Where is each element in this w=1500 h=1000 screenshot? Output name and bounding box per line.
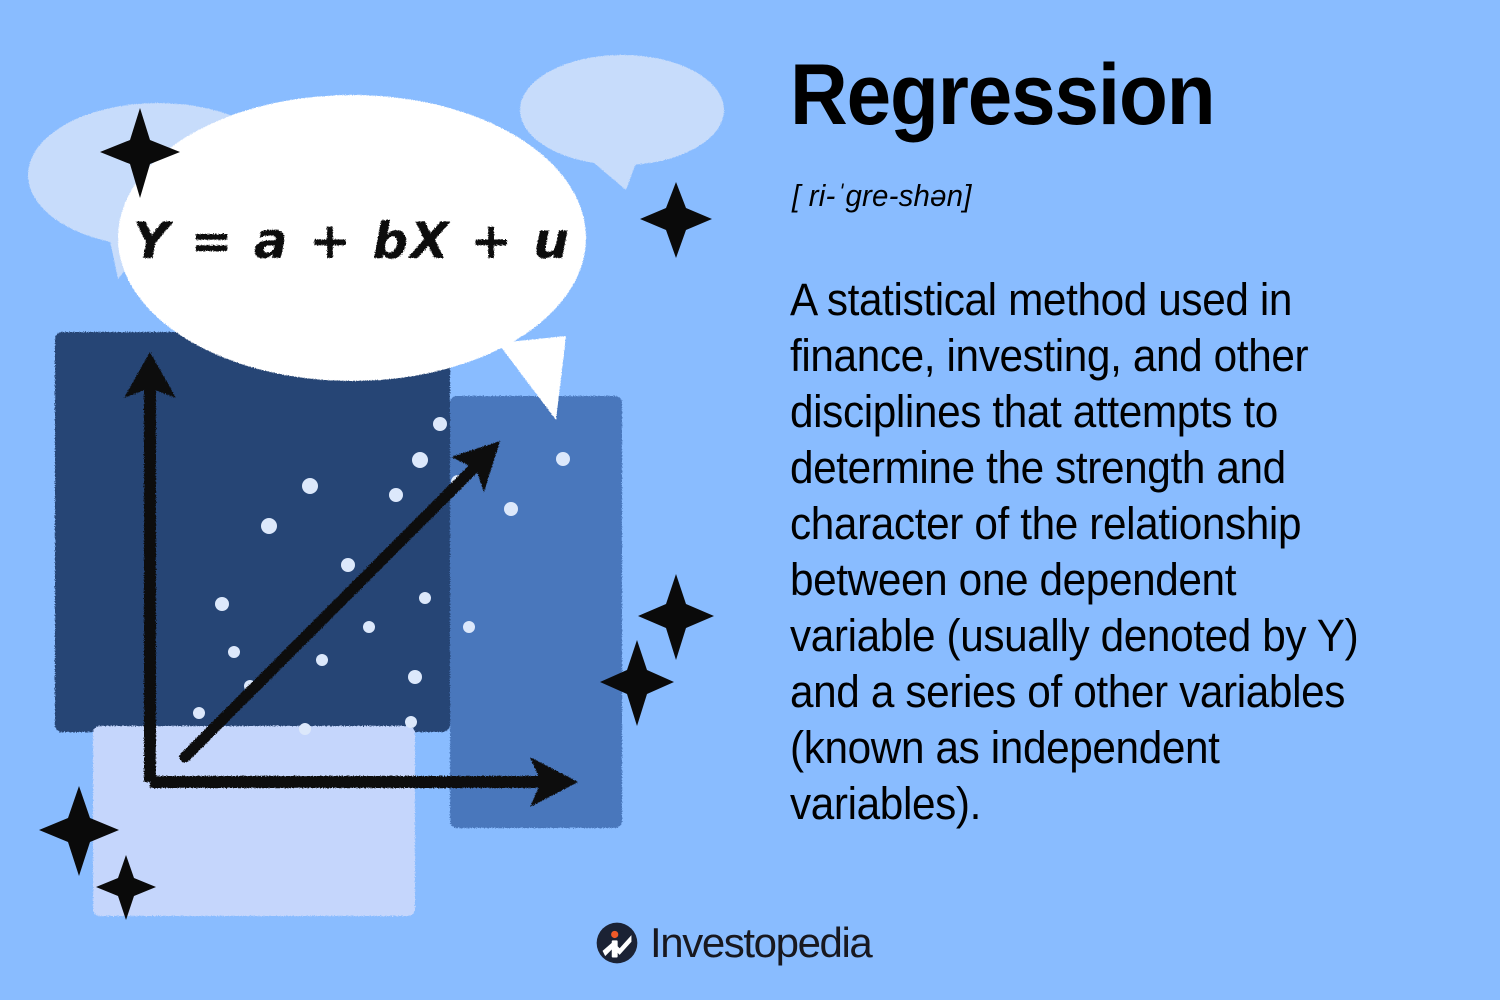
sparkle-icon <box>638 574 714 660</box>
brand-lockup: Investopedia <box>596 922 871 964</box>
scatter-point <box>363 621 375 633</box>
scatter-point <box>504 502 518 516</box>
investopedia-logo-icon <box>596 922 638 964</box>
scatter-point <box>228 646 240 658</box>
scatter-point <box>556 452 570 466</box>
scatter-point <box>433 417 447 431</box>
scatter-point <box>193 707 205 719</box>
scatter-point <box>463 621 475 633</box>
scatter-point <box>215 597 229 611</box>
speech-bubble-right-back <box>520 55 724 165</box>
entry-text-column: Regression [ ri-ˈgre-shən] A statistical… <box>790 0 1430 1000</box>
scatter-point <box>341 558 355 572</box>
scatter-point <box>389 488 403 502</box>
sparkle-icon <box>640 182 712 258</box>
scatter-point <box>405 716 417 728</box>
brand-name: Investopedia <box>650 922 871 964</box>
pronunciation-text: [ ri-ˈgre-shən] <box>792 178 972 214</box>
regression-illustration: Y = a + bX + u <box>0 0 760 1000</box>
regression-formula: Y = a + bX + u <box>133 212 571 270</box>
definition-text: A statistical method used in finance, in… <box>790 272 1392 832</box>
illustration-canvas: Y = a + bX + u <box>0 0 760 1000</box>
scatter-point <box>412 452 428 468</box>
chart-panel-navy <box>55 332 450 732</box>
scatter-point <box>419 592 431 604</box>
scatter-point <box>261 518 277 534</box>
scatter-point <box>316 654 328 666</box>
scatter-point <box>302 478 318 494</box>
definition-card: Y = a + bX + u Regression [ ri-ˈgre-shən… <box>0 0 1500 1000</box>
scatter-point <box>299 723 311 735</box>
speech-bubble-right-back-tail <box>588 152 640 190</box>
scatter-point <box>408 670 422 684</box>
page-title: Regression <box>790 52 1214 140</box>
